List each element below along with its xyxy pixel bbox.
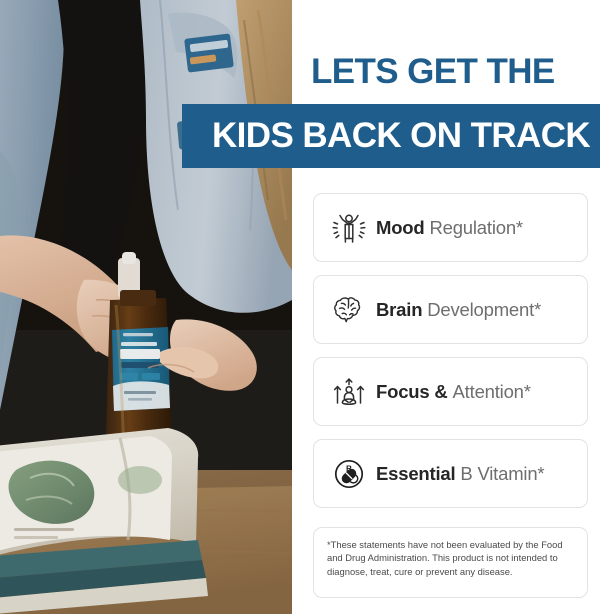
headline-line-1: LETS GET THE [311, 52, 591, 92]
headline-banner: KIDS BACK ON TRACK [182, 104, 600, 168]
lifestyle-photo [0, 0, 292, 614]
benefit-card-mood[interactable]: Mood Regulation* [313, 193, 588, 262]
benefit-label-vitamin: Essential B Vitamin* [376, 463, 544, 485]
headline-line-2: KIDS BACK ON TRACK [212, 116, 590, 156]
benefit-brain-light: Development* [427, 299, 541, 320]
benefit-focus-strong: Focus & [376, 381, 448, 402]
fda-disclaimer-box: *These statements have not been evaluate… [313, 527, 588, 598]
benefit-vitamin-strong: Essential [376, 463, 455, 484]
lifestyle-photo-image [0, 0, 292, 614]
benefit-label-focus: Focus & Attention* [376, 381, 531, 403]
benefit-card-vitamin[interactable]: B Essential B Vitamin* [313, 439, 588, 508]
meditating-person-arrows-icon [322, 370, 376, 414]
fda-disclaimer-text: *These statements have not been evaluate… [327, 538, 574, 578]
benefit-mood-light: Regulation* [429, 217, 522, 238]
vitamin-b-capsules-icon: B [322, 452, 376, 496]
benefit-label-mood: Mood Regulation* [376, 217, 523, 239]
product-poster: LETS GET THE KIDS BACK ON TRACK [0, 0, 600, 614]
benefits-list: Mood Regulation* Brain Development* [313, 193, 588, 521]
person-arms-raised-icon [322, 206, 376, 250]
benefit-focus-light: Attention* [453, 381, 531, 402]
benefit-label-brain: Brain Development* [376, 299, 541, 321]
brain-icon [322, 288, 376, 332]
benefit-mood-strong: Mood [376, 217, 425, 238]
benefit-card-focus[interactable]: Focus & Attention* [313, 357, 588, 426]
benefit-card-brain[interactable]: Brain Development* [313, 275, 588, 344]
benefit-brain-strong: Brain [376, 299, 422, 320]
benefit-vitamin-light: B Vitamin* [460, 463, 544, 484]
